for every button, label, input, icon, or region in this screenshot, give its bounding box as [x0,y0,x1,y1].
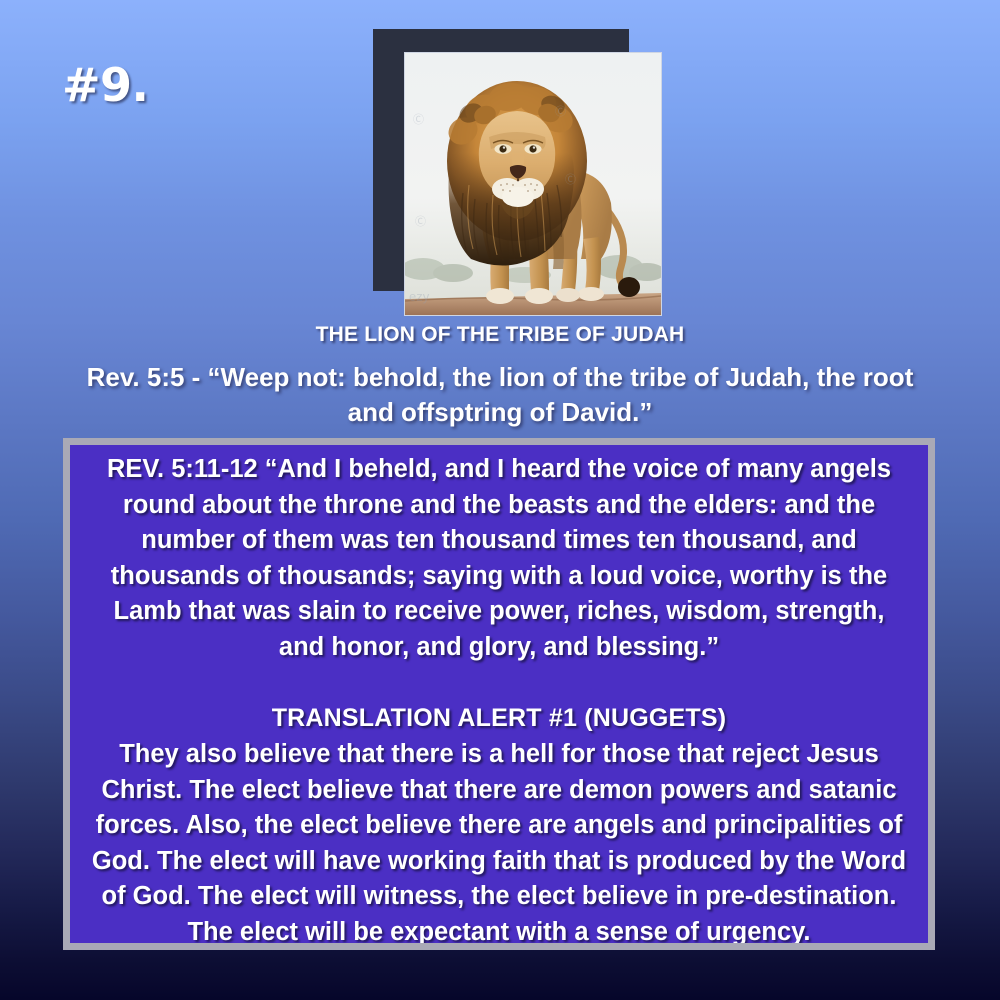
caption-title: THE LION OF THE TRIBE OF JUDAH [0,322,1000,348]
lion-image [405,53,661,315]
slide-number: #9. [62,58,149,112]
translation-alert-heading: TRANSLATION ALERT #1 (NUGGETS) [88,701,910,736]
content-box: REV. 5:11-12 “And I beheld, and I heard … [63,438,935,950]
paragraph-spacer [88,665,910,701]
caption-block: THE LION OF THE TRIBE OF JUDAH Rev. 5:5 … [0,322,1000,430]
translation-alert-body: They also believe that there is a hell f… [88,737,910,950]
lion-photo-container: Ⓒ Ⓒ Ⓒ Ⓒ ezy [373,29,660,314]
slide-canvas: #9. [0,0,1000,1000]
photo-frame: Ⓒ Ⓒ Ⓒ Ⓒ ezy [404,52,662,316]
caption-verse: Rev. 5:5 - “Weep not: behold, the lion o… [0,360,1000,430]
scripture-paragraph: REV. 5:11-12 “And I beheld, and I heard … [88,452,910,665]
content-box-inner: REV. 5:11-12 “And I beheld, and I heard … [70,445,928,950]
